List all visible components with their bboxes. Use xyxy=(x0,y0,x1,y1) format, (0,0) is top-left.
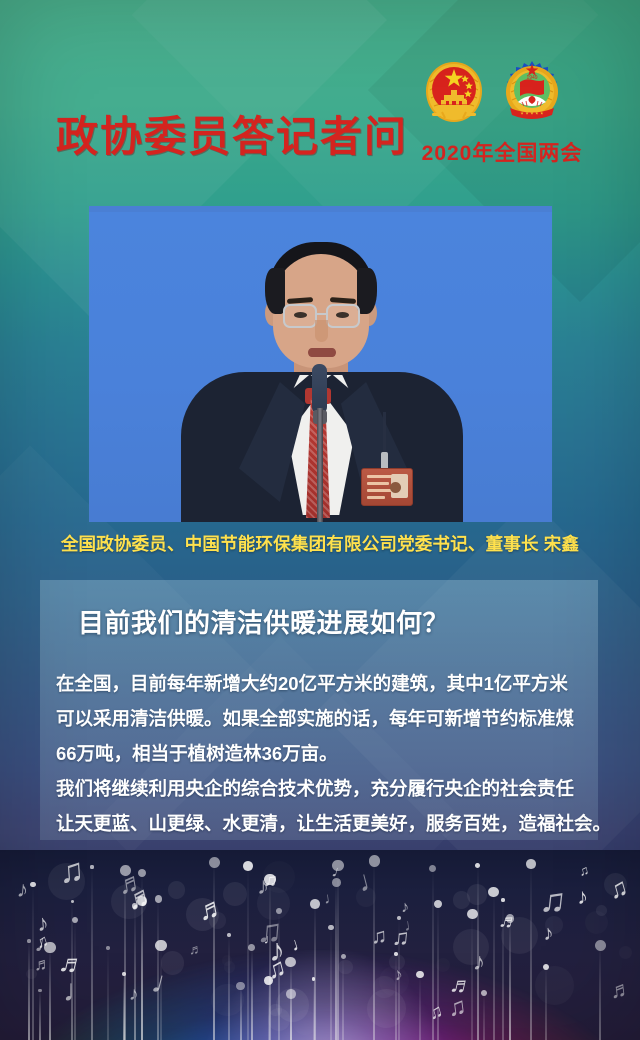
photo-nose xyxy=(315,320,328,342)
light-streak xyxy=(419,975,421,1040)
bokeh-circle xyxy=(535,966,574,1005)
light-streak xyxy=(91,867,93,1040)
answer-text: 在全国，目前每年新增大约20亿平方米的建筑，其中1亿平方米 可以采用清洁供暖。如… xyxy=(56,666,604,841)
bokeh-circle xyxy=(223,882,247,906)
music-notes-rainbow-decoration: ♫♩♫♪♩♬♩♩♪♫♩♫♬♫♫♫♪♩♩♬♫♬♫♫♪♬♪♪♫♬♪♩♫♪♬♪♬♪♩♬ xyxy=(0,850,640,1040)
question-heading: 目前我们的清洁供暖进展如何？ xyxy=(78,603,598,640)
photo-hair-side-left xyxy=(265,268,285,314)
music-note-icon: ♫ xyxy=(256,914,284,950)
light-dot xyxy=(328,925,334,931)
music-note-icon: ♬ xyxy=(448,972,476,1000)
light-streak xyxy=(39,990,41,1040)
light-dot xyxy=(71,900,74,903)
photo-hair-side-right xyxy=(357,268,377,314)
music-note-icon: ♪ xyxy=(401,899,410,916)
light-streak xyxy=(213,862,215,1040)
light-dot xyxy=(122,972,126,976)
music-note-icon: ♪ xyxy=(36,911,49,935)
music-note-icon: ♩ xyxy=(403,916,422,935)
music-note-icon: ♪ xyxy=(257,875,269,899)
page-title: 政协委员答记者问 xyxy=(56,116,408,158)
music-note-icon: ♪ xyxy=(576,886,588,909)
light-streak xyxy=(28,941,30,1040)
bokeh-circle xyxy=(453,891,471,909)
light-streak xyxy=(483,993,485,1040)
light-dot xyxy=(310,899,320,909)
photo-glasses-right xyxy=(326,304,360,328)
speaker-photo xyxy=(89,212,552,522)
microphone-icon xyxy=(312,364,327,414)
national-emblem-china-icon xyxy=(418,56,490,128)
light-streak xyxy=(330,928,332,1040)
event-year-label: 2020年全国两会 xyxy=(418,137,586,167)
photo-glasses-bridge xyxy=(316,313,327,315)
bokeh-circle xyxy=(338,960,353,975)
bokeh-circle xyxy=(293,1010,317,1034)
music-note-icon: ♪ xyxy=(128,985,138,1005)
music-note-icon: ♪ xyxy=(16,878,29,902)
answer-line: 我们将继续利用央企的综合技术优势，充分履行央企的社会责任 xyxy=(56,771,604,806)
music-note-icon: ♫ xyxy=(446,995,467,1022)
light-streak xyxy=(599,945,601,1040)
music-note-icon: ♩ xyxy=(63,975,94,1006)
answer-line: 66万吨，相当于植树造林36万亩。 xyxy=(56,736,604,771)
answer-line: 可以采用清洁供暖。如果全部实施的话，每年可新增节约标准煤 xyxy=(56,701,604,736)
music-note-icon: ♩ xyxy=(323,890,340,907)
music-note-icon: ♫ xyxy=(58,854,85,889)
light-dot xyxy=(27,939,31,943)
answer-line: 在全国，目前每年新增大约20亿平方米的建筑，其中1亿平方米 xyxy=(56,666,604,701)
music-note-icon: ♪ xyxy=(472,951,486,976)
light-dot xyxy=(106,946,110,950)
bokeh-circle xyxy=(211,984,243,1016)
badge-portrait xyxy=(391,474,408,498)
light-dot xyxy=(416,971,424,979)
light-dot xyxy=(595,940,606,951)
light-dot xyxy=(90,865,93,868)
bokeh-circle xyxy=(269,1004,282,1017)
music-note-icon: ♫ xyxy=(371,926,388,948)
emblem-group: 1949 ★ ★ ★ ★ ★ xyxy=(418,56,578,128)
delegate-badge xyxy=(361,468,413,506)
badge-lanyard xyxy=(383,412,386,456)
light-dot xyxy=(243,861,253,871)
light-dot xyxy=(285,957,295,967)
light-dot xyxy=(38,989,41,992)
bokeh-circle xyxy=(585,911,608,934)
music-note-icon: ♬ xyxy=(189,943,203,957)
microphone-stand xyxy=(317,408,323,522)
svg-text:★ ★ ★ ★ ★: ★ ★ ★ ★ ★ xyxy=(520,111,544,116)
light-dot xyxy=(526,859,535,868)
light-dot xyxy=(30,882,36,888)
music-note-icon: ♬ xyxy=(608,978,633,1003)
poster-root: 政协委员答记者问 xyxy=(0,0,640,1040)
light-streak xyxy=(134,906,136,1040)
music-note-icon: ♬ xyxy=(196,892,229,925)
music-note-icon: ♫ xyxy=(538,882,568,920)
light-streak xyxy=(530,864,532,1040)
light-streak xyxy=(123,974,125,1040)
light-streak xyxy=(107,948,109,1040)
bokeh-circle xyxy=(224,961,236,973)
photo-glasses-left xyxy=(283,304,317,328)
light-streak xyxy=(247,866,249,1040)
cppcc-emblem-icon: 1949 ★ ★ ★ ★ ★ xyxy=(496,56,568,128)
light-dot xyxy=(475,863,480,868)
light-streak xyxy=(251,948,253,1040)
light-dot xyxy=(501,898,505,902)
music-note-icon: ♪ xyxy=(542,923,554,945)
bokeh-circle xyxy=(367,989,406,1028)
answer-line: 让天更蓝、山更绿、水更清，让生活更美好，服务百姓，造福社会。 xyxy=(56,806,604,841)
light-streak xyxy=(493,892,495,1040)
photo-mouth xyxy=(308,348,336,357)
speaker-caption: 全国政协委员、中国节能环保集团有限公司党委书记、董事长 宋鑫 xyxy=(0,531,640,556)
